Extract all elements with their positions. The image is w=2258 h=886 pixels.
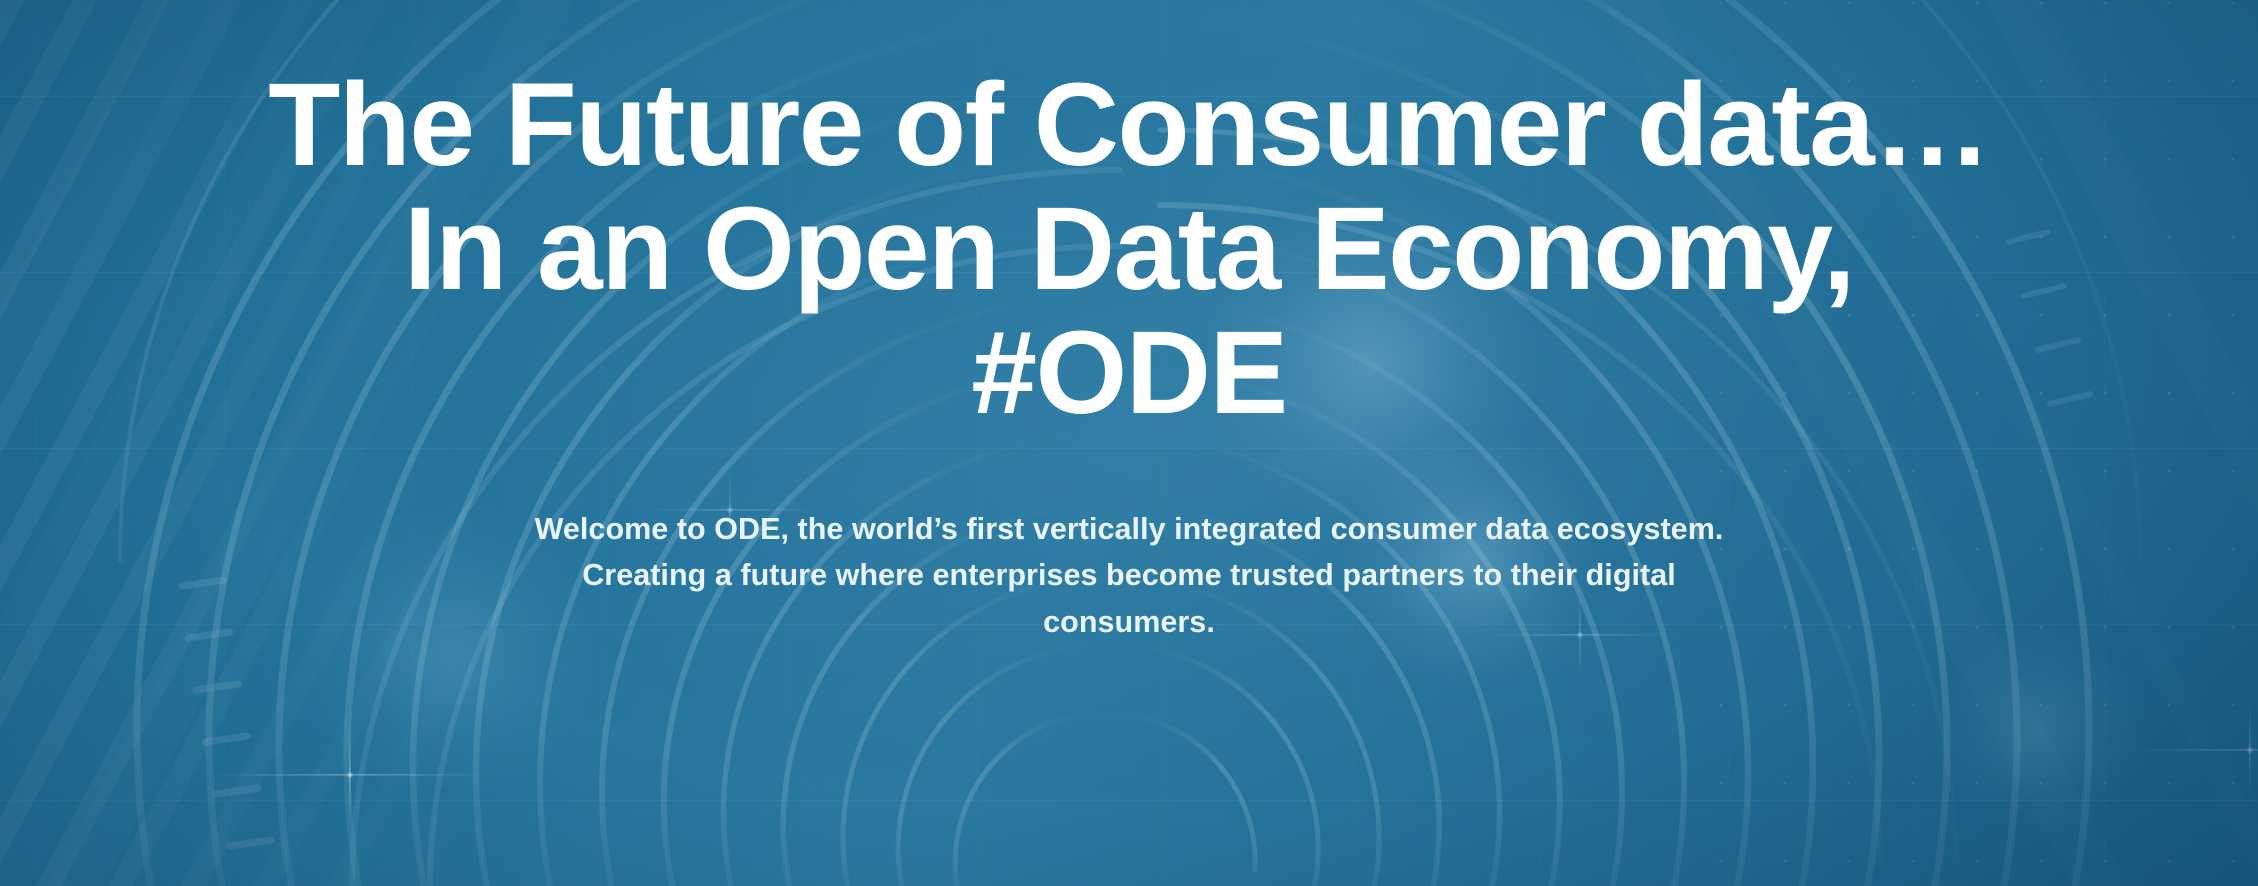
hero-subcopy: Welcome to ODE, the world’s first vertic… (249, 506, 2009, 645)
subcopy-line-1: Welcome to ODE, the world’s first vertic… (249, 506, 2009, 552)
headline-line-3: #ODE (34, 314, 2224, 432)
subcopy-line-2: Creating a future where enterprises beco… (249, 552, 2009, 598)
page-title: The Future of Consumer data… In an Open … (34, 66, 2224, 432)
subcopy-line-3: consumers. (249, 599, 2009, 645)
hero-banner: The Future of Consumer data… In an Open … (0, 0, 2258, 886)
headline-line-1: The Future of Consumer data… (34, 66, 2224, 184)
headline-line-2: In an Open Data Economy, (34, 190, 2224, 308)
hero-content: The Future of Consumer data… In an Open … (0, 0, 2258, 886)
